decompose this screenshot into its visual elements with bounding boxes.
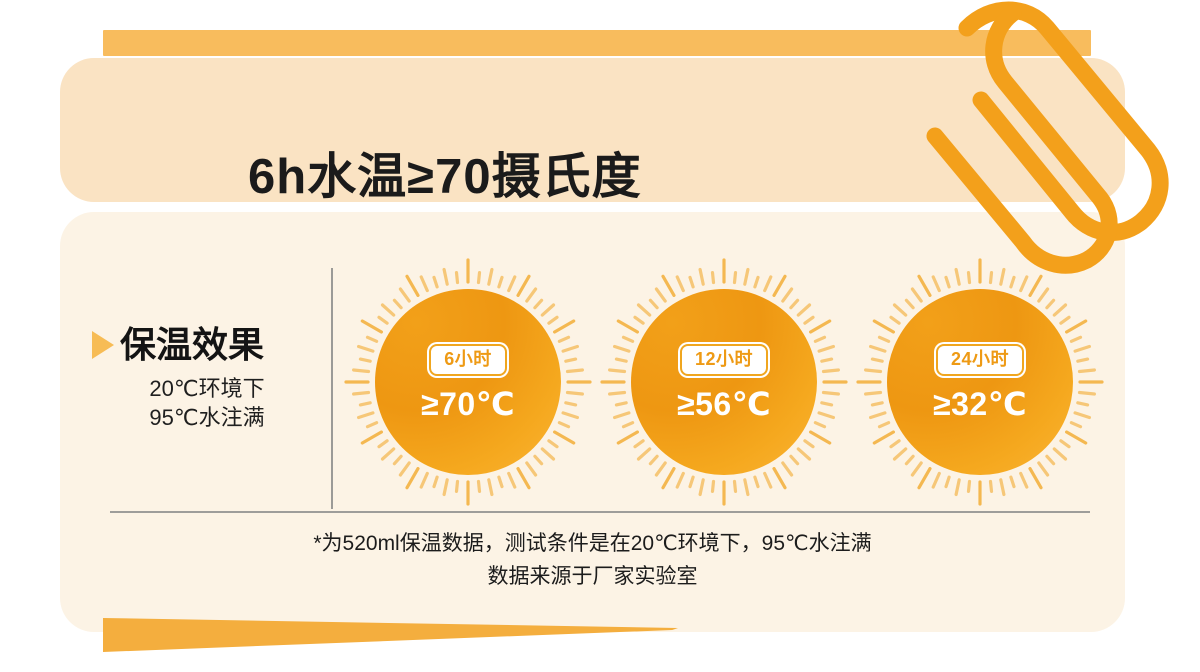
time-badge-12h: 12小时 <box>680 344 768 376</box>
temp-value-24h: ≥32℃ <box>933 388 1027 420</box>
header-card: 6h水温≥70摄氏度 <box>60 58 1125 202</box>
left-subtitle-line-1: 20℃环境下 <box>92 374 322 403</box>
data-circles-group: 6小时 ≥70℃ 12小时 ≥56℃ 24小时 ≥32℃ <box>340 258 1110 506</box>
temp-value-6h: ≥70℃ <box>421 388 515 420</box>
time-badge-6h: 6小时 <box>429 344 507 376</box>
circle-24h: 24小时 ≥32℃ <box>852 258 1108 506</box>
circle-body-6h: 6小时 ≥70℃ <box>375 289 561 475</box>
circle-12h: 12小时 ≥56℃ <box>596 258 852 506</box>
left-subtitle: 20℃环境下 95℃水注满 <box>92 374 322 432</box>
circle-body-24h: 24小时 ≥32℃ <box>887 289 1073 475</box>
footnote-line-1: *为520ml保温数据，测试条件是在20℃环境下，95℃水注满 <box>60 528 1125 561</box>
horizontal-divider <box>110 511 1090 513</box>
vertical-divider <box>331 268 333 509</box>
triangle-right-icon <box>92 331 114 359</box>
top-accent-bar <box>103 30 1091 56</box>
circle-6h: 6小时 ≥70℃ <box>340 258 596 506</box>
left-title-row: 保温效果 <box>92 326 322 364</box>
page-title: 6h水温≥70摄氏度 <box>248 153 642 202</box>
left-subtitle-line-2: 95℃水注满 <box>92 403 322 432</box>
time-badge-24h: 24小时 <box>936 344 1024 376</box>
infographic-canvas: 6h水温≥70摄氏度 保温效果 20℃环境下 95℃水注满 6小时 ≥70℃ <box>0 0 1200 672</box>
circle-body-12h: 12小时 ≥56℃ <box>631 289 817 475</box>
left-title: 保温效果 <box>120 326 264 364</box>
footnote: *为520ml保温数据，测试条件是在20℃环境下，95℃水注满 数据来源于厂家实… <box>60 528 1125 593</box>
left-label-block: 保温效果 20℃环境下 95℃水注满 <box>92 326 322 432</box>
temp-value-12h: ≥56℃ <box>677 388 771 420</box>
footnote-line-2: 数据来源于厂家实验室 <box>60 561 1125 594</box>
